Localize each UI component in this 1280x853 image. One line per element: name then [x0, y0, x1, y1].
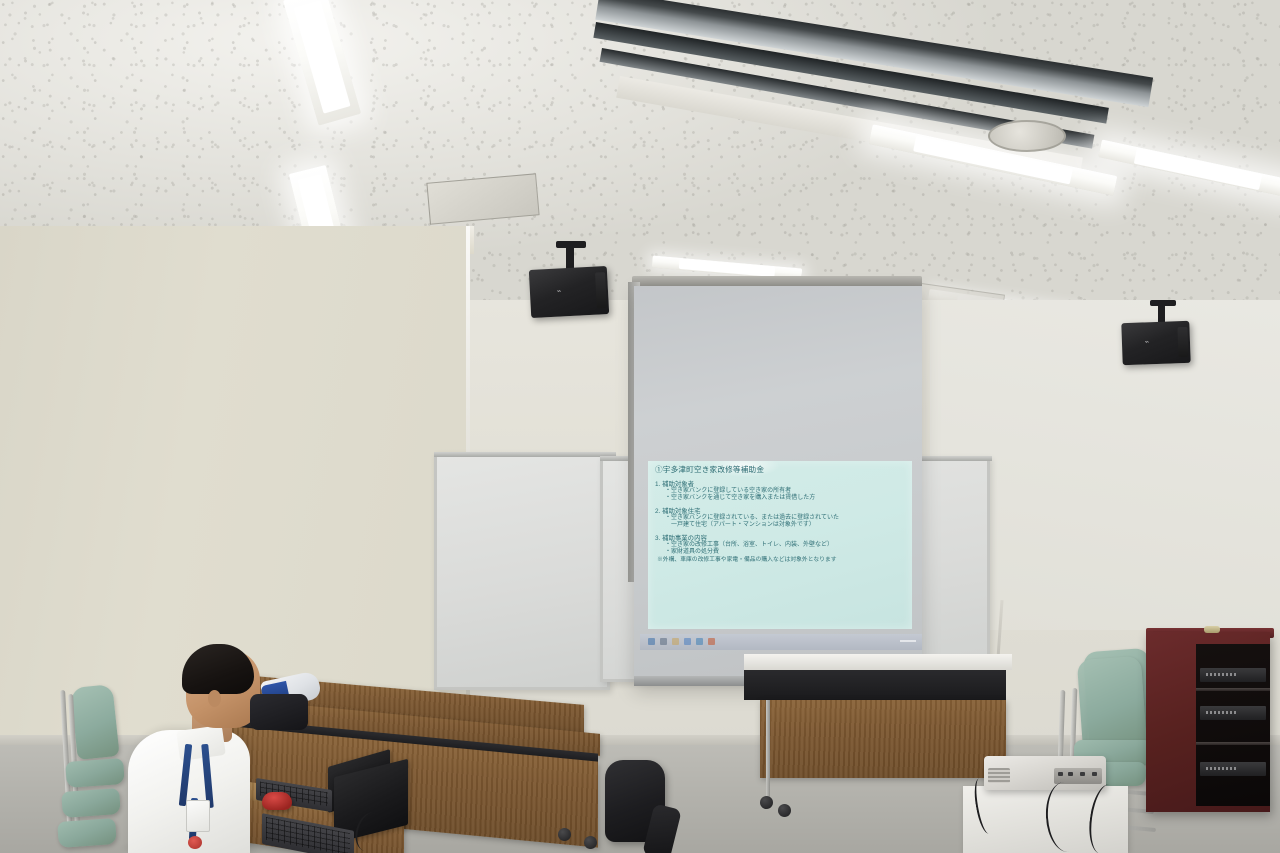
projector-port-2 — [1068, 772, 1073, 776]
av-rack-player — [1200, 762, 1266, 776]
speaker-right-logo: ⌁ — [1144, 337, 1150, 346]
stacked-chair-left-back-1 — [70, 684, 119, 760]
av-cabinet-shelf-1 — [1196, 688, 1270, 691]
file-explorer-icon[interactable] — [672, 638, 679, 645]
slide-section-3-note: ※外構、車庫の改修工事や家電・備品の購入などは対象外となります — [657, 557, 905, 564]
table-caster-2 — [584, 836, 597, 849]
av-rack-amplifier — [1200, 706, 1266, 720]
projector-vent — [988, 768, 1010, 783]
slide-section-3: 3. 補助事業の内容 ・空き家の改修工事（台所、浴室、トイレ、内装、外壁など） … — [655, 535, 905, 564]
projector-port-3 — [1080, 772, 1085, 776]
projected-slide: ①宇多津町空き家改修等補助金 1. 補助対象者 ・空き家バンクに登録している空き… — [648, 461, 912, 629]
av-cabinet-interior — [1196, 644, 1270, 806]
av-cabinet-shelf-2 — [1196, 742, 1270, 745]
slide-title: ①宇多津町空き家改修等補助金 — [655, 466, 905, 474]
right-table-caster-1 — [760, 796, 773, 809]
slide-section-3-title: 補助事業の内容 — [662, 535, 707, 542]
windows-start-icon[interactable] — [648, 638, 655, 645]
dark-bag-on-table — [250, 694, 308, 730]
powerpoint-icon[interactable] — [708, 638, 715, 645]
speaker-left: ⌁ — [529, 266, 609, 318]
slide-section-3-bullet-2: ・家財道具の処分費 — [665, 549, 905, 557]
slide-section-1-number: 1. — [655, 481, 660, 488]
speaker-left-logo: ⌁ — [556, 286, 562, 295]
slide-section-3-heading: 3. 補助事業の内容 — [655, 535, 905, 542]
slide-section-1-bullet-2: ・空き家バンクを通じて空き家を購入または賃借した方 — [665, 495, 905, 503]
right-table-caster-2 — [778, 804, 791, 817]
slide-section-3-number: 3. — [655, 535, 660, 542]
ceiling-air-vent — [988, 120, 1066, 152]
whiteboard-left — [434, 452, 610, 690]
projector-port-1 — [1058, 772, 1063, 776]
search-icon[interactable] — [660, 638, 667, 645]
right-table-leg — [766, 700, 770, 806]
right-table-frame — [744, 668, 1006, 700]
mail-icon[interactable] — [696, 638, 703, 645]
speaker-right-bracket — [1150, 300, 1176, 306]
slide-section-2-number: 2. — [655, 508, 660, 515]
projector-port-4 — [1092, 772, 1097, 776]
badge-clip — [188, 836, 202, 849]
slide-section-1-heading: 1. 補助対象者 — [655, 481, 905, 488]
slide-section-1: 1. 補助対象者 ・空き家バンクに登録している空き家の所有者 ・空き家バンクを通… — [655, 481, 905, 503]
av-rack-mixer — [1200, 668, 1266, 682]
room-photo-scene: ⌁ ⌁ ①宇多津町空き家改修等補助金 1. 補助対象者 ・空き家バンクに登録して… — [0, 0, 1280, 853]
computer-mouse[interactable] — [262, 792, 292, 810]
taskbar-system-tray[interactable] — [900, 640, 916, 642]
slide-section-2: 2. 補助対象住宅 ・空き家バンクに登録されている、または過去に登録されていた … — [655, 508, 905, 530]
slide-section-2-bullet-2: 一戸建て住宅（アパート・マンションは対象外です） — [665, 522, 905, 530]
speaker-left-grille — [595, 272, 607, 308]
stacked-chair-left-seat-3 — [57, 818, 117, 848]
browser-icon[interactable] — [684, 638, 691, 645]
speaker-right: ⌁ — [1121, 321, 1190, 365]
slide-section-2-title: 補助対象住宅 — [662, 508, 700, 515]
slide-content: ①宇多津町空き家改修等補助金 1. 補助対象者 ・空き家バンクに登録している空き… — [655, 466, 905, 624]
windows-taskbar[interactable] — [640, 634, 922, 650]
whiteboard-left-tray — [434, 452, 616, 457]
speaker-left-bracket — [556, 241, 586, 248]
table-caster-1 — [558, 828, 571, 841]
id-badge — [186, 800, 210, 832]
slide-section-2-heading: 2. 補助対象住宅 — [655, 508, 905, 515]
av-cabinet-latch — [1204, 626, 1220, 633]
slide-section-1-title: 補助対象者 — [662, 481, 694, 488]
person-ear — [208, 690, 221, 707]
stacked-chair-left-seat-1 — [65, 758, 125, 788]
stacked-chair-left-seat-2 — [61, 788, 121, 818]
speaker-right-grille — [1177, 327, 1188, 357]
right-table-panel — [760, 700, 1006, 778]
right-table-top-surface — [744, 654, 1012, 670]
taskbar-icon-group — [648, 638, 715, 645]
